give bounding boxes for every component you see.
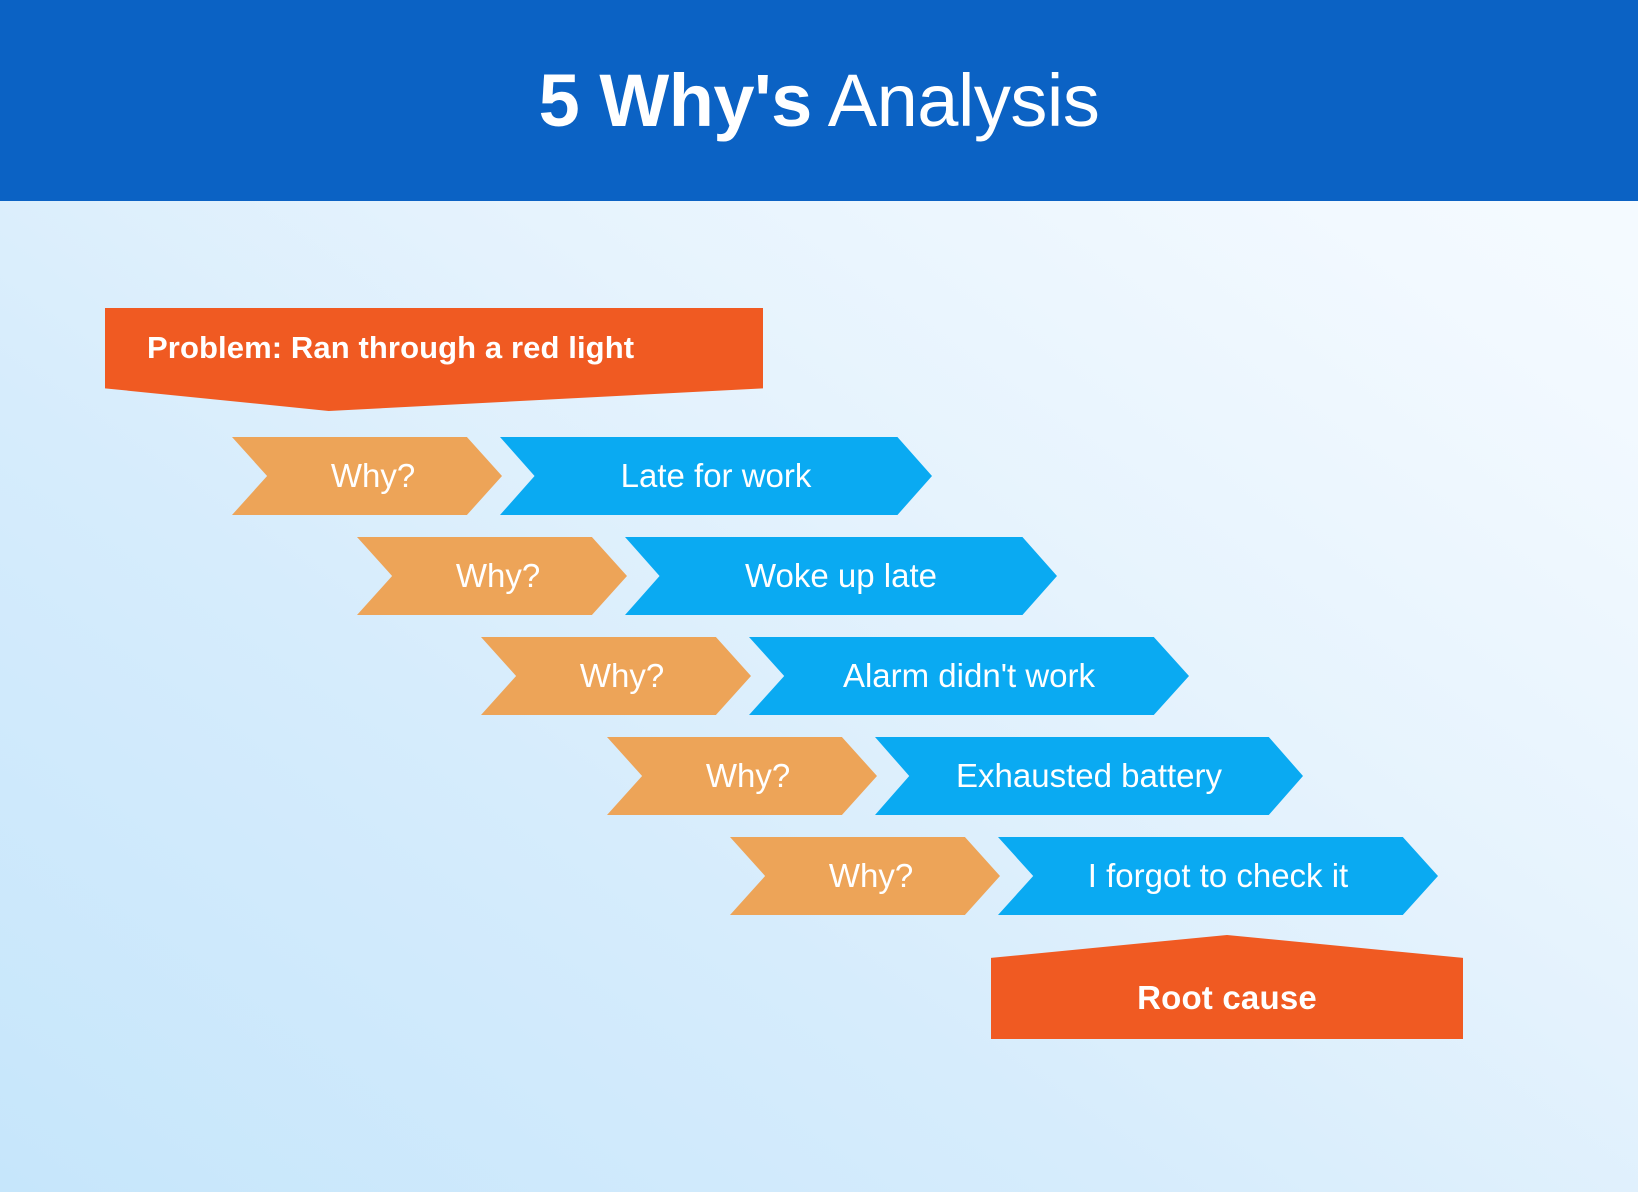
problem-label: Problem: Ran through a red light <box>105 308 634 366</box>
why-chevron-label-4: Why? <box>706 757 790 795</box>
answer-arrow-5[interactable]: I forgot to check it <box>998 837 1438 915</box>
page-title: 5 Why's Analysis <box>539 64 1100 138</box>
root-cause-banner[interactable]: Root cause <box>991 935 1463 1039</box>
why-chevron-1[interactable]: Why? <box>232 437 502 515</box>
why-chevron-3[interactable]: Why? <box>481 637 751 715</box>
answer-label-5: I forgot to check it <box>1088 857 1348 895</box>
answer-arrow-3[interactable]: Alarm didn't work <box>749 637 1189 715</box>
why-chevron-label-5: Why? <box>829 857 913 895</box>
root-cause-label: Root cause <box>1137 979 1317 1039</box>
answer-arrow-4[interactable]: Exhausted battery <box>875 737 1303 815</box>
why-chevron-5[interactable]: Why? <box>730 837 1000 915</box>
answer-label-2: Woke up late <box>745 557 937 595</box>
answer-label-4: Exhausted battery <box>956 757 1222 795</box>
page-header: 5 Why's Analysis <box>0 0 1638 201</box>
why-chevron-2[interactable]: Why? <box>357 537 627 615</box>
diagram-canvas: Problem: Ran through a red light Why?Lat… <box>0 201 1638 1192</box>
why-chevron-4[interactable]: Why? <box>607 737 877 815</box>
problem-banner[interactable]: Problem: Ran through a red light <box>105 308 763 411</box>
why-chevron-label-2: Why? <box>456 557 540 595</box>
answer-arrow-2[interactable]: Woke up late <box>625 537 1057 615</box>
page-title-bold: 5 Why's <box>539 59 812 142</box>
answer-arrow-1[interactable]: Late for work <box>500 437 932 515</box>
answer-label-3: Alarm didn't work <box>843 657 1095 695</box>
page-title-light: Analysis <box>812 59 1100 142</box>
why-chevron-label-1: Why? <box>331 457 415 495</box>
answer-label-1: Late for work <box>621 457 812 495</box>
why-chevron-label-3: Why? <box>580 657 664 695</box>
